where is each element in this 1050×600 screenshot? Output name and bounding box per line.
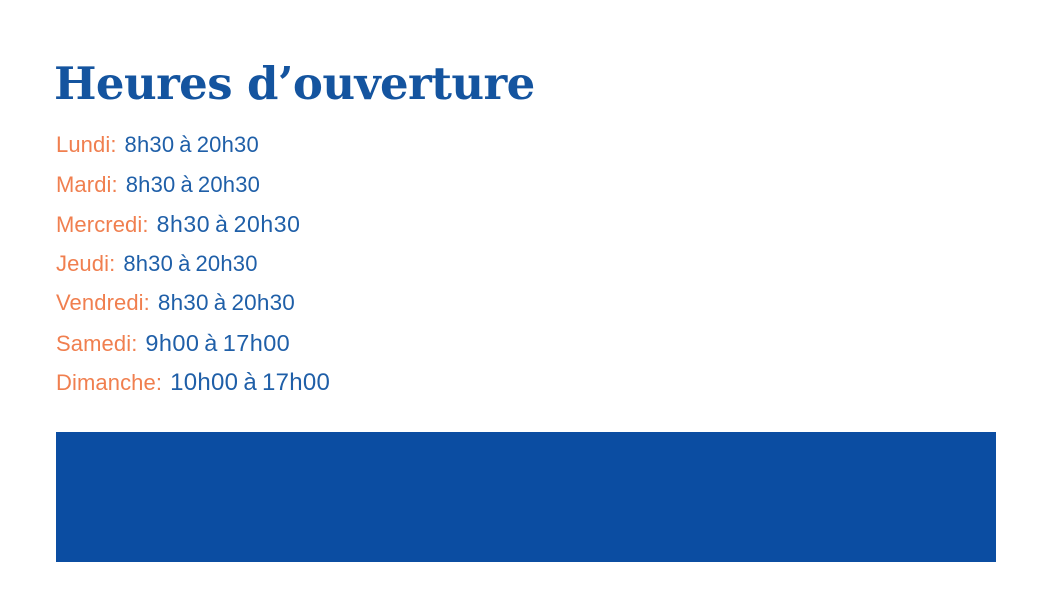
time-range: 8h30à20h30 <box>123 251 257 277</box>
time-close: 20h30 <box>198 172 260 197</box>
list-item: Mardi: 8h30à20h30 <box>56 172 756 212</box>
time-close: 17h00 <box>223 330 290 356</box>
time-open: 8h30 <box>123 251 173 276</box>
time-separator: à <box>175 172 197 197</box>
time-separator: à <box>199 330 222 356</box>
list-item: Jeudi: 8h30à20h30 <box>56 251 756 291</box>
time-open: 8h30 <box>158 290 209 315</box>
list-item: Samedi: 9h00à17h00 <box>56 330 756 370</box>
day-label: Samedi: <box>56 331 137 357</box>
list-item: Vendredi: 8h30à20h30 <box>56 290 756 330</box>
day-label: Lundi: <box>56 132 117 158</box>
time-separator: à <box>174 132 196 157</box>
list-item: Lundi: 8h30à20h30 <box>56 132 756 172</box>
time-close: 20h30 <box>234 211 301 237</box>
time-close: 20h30 <box>231 290 295 315</box>
day-label: Mardi: <box>56 172 118 198</box>
time-open: 8h30 <box>126 172 176 197</box>
time-open: 10h00 <box>170 369 238 396</box>
time-range: 8h30à20h30 <box>125 132 259 158</box>
list-item: Dimanche: 10h00à17h00 <box>56 369 756 409</box>
day-label: Dimanche: <box>56 370 162 396</box>
list-item: Mercredi: 8h30à20h30 <box>56 211 756 251</box>
time-range: 8h30à20h30 <box>158 290 295 316</box>
time-open: 9h00 <box>145 330 199 356</box>
media-placeholder-block <box>56 432 996 562</box>
time-range: 8h30à20h30 <box>126 172 260 198</box>
time-range: 9h00à17h00 <box>145 330 290 357</box>
slide-canvas: Heures d’ouverture Lundi: 8h30à20h30 Mar… <box>0 0 1050 600</box>
time-close: 20h30 <box>196 251 258 276</box>
page-title: Heures d’ouverture <box>54 61 535 107</box>
time-separator: à <box>173 251 195 276</box>
day-label: Jeudi: <box>56 251 115 277</box>
time-separator: à <box>238 369 262 396</box>
day-label: Vendredi: <box>56 290 150 316</box>
day-label: Mercredi: <box>56 212 149 238</box>
time-open: 8h30 <box>125 132 175 157</box>
opening-hours-list: Lundi: 8h30à20h30 Mardi: 8h30à20h30 Merc… <box>56 132 756 409</box>
time-open: 8h30 <box>157 211 211 237</box>
time-separator: à <box>210 211 233 237</box>
time-close: 20h30 <box>197 132 259 157</box>
time-range: 8h30à20h30 <box>157 211 301 238</box>
time-close: 17h00 <box>262 369 330 396</box>
time-range: 10h00à17h00 <box>170 369 330 397</box>
time-separator: à <box>209 290 232 315</box>
